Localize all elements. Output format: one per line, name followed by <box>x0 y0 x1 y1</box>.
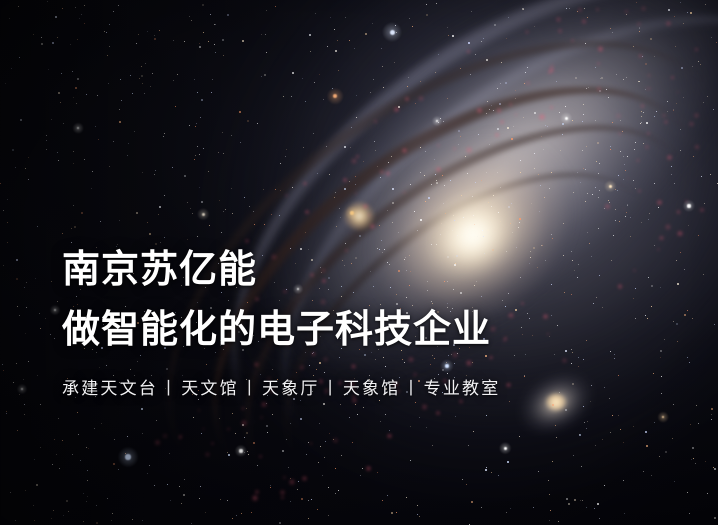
tagline-separator: 丨 <box>239 379 262 398</box>
tagline-separator: 丨 <box>320 379 343 398</box>
tagline-item: 天象厅 <box>262 379 320 398</box>
tagline: 承建天文台丨天文馆丨天象厅丨天象馆丨专业教室 <box>62 374 662 399</box>
tagline-separator: 丨 <box>158 379 181 398</box>
hero-copy-block: 南京苏亿能 做智能化的电子科技企业 承建天文台丨天文馆丨天象厅丨天象馆丨专业教室 <box>62 244 662 399</box>
tagline-separator: 丨 <box>400 379 423 398</box>
hero-banner: 南京苏亿能 做智能化的电子科技企业 承建天文台丨天文馆丨天象厅丨天象馆丨专业教室 <box>0 0 718 525</box>
tagline-item: 专业教室 <box>424 379 501 398</box>
headline-line-2: 做智能化的电子科技企业 <box>62 304 662 356</box>
tagline-item: 承建天文台 <box>62 379 158 398</box>
tagline-item: 天象馆 <box>343 379 401 398</box>
headline-line-1: 南京苏亿能 <box>62 244 662 296</box>
tagline-item: 天文馆 <box>181 379 239 398</box>
